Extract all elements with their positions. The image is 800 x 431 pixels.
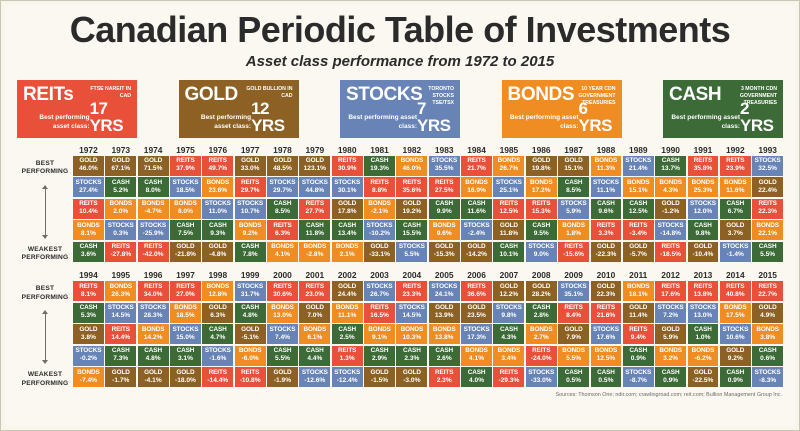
- asset-cell: STOCKS21.4%: [623, 156, 654, 176]
- asset-cell: BONDS4.1%: [461, 346, 492, 366]
- asset-cell-value: 9.8%: [493, 312, 524, 320]
- asset-cell-name: GOLD: [170, 369, 201, 377]
- asset-cell-name: STOCKS: [299, 369, 330, 377]
- asset-cell-name: BONDS: [73, 369, 104, 377]
- asset-cell-name: CASH: [623, 200, 654, 208]
- asset-cell-name: REITS: [720, 283, 751, 291]
- asset-cell-value: 4.1%: [461, 355, 492, 363]
- asset-cell-name: BONDS: [752, 326, 783, 334]
- asset-cell: GOLD3.8%: [73, 324, 104, 344]
- asset-cell: REITS-18.5%: [655, 242, 686, 262]
- asset-cell-name: STOCKS: [526, 243, 557, 251]
- asset-cell-value: 15.0%: [170, 334, 201, 342]
- asset-cell-name: STOCKS: [73, 347, 104, 355]
- asset-cell: GOLD-1.2%: [655, 199, 686, 219]
- asset-cell-name: GOLD: [623, 243, 654, 251]
- asset-cell-name: STOCKS: [720, 243, 751, 251]
- asset-cell: STOCKS5.5%: [396, 242, 427, 262]
- asset-cell: GOLD-4.8%: [202, 242, 233, 262]
- asset-cell: GOLD-1.7%: [105, 367, 136, 387]
- asset-cell: STOCKS17.6%: [591, 324, 622, 344]
- asset-cell: CASH3.1%: [170, 346, 201, 366]
- asset-cell: STOCKS24.1%: [429, 281, 460, 301]
- asset-cell: GOLD-18.0%: [170, 367, 201, 387]
- asset-cell: REITS-15.6%: [558, 242, 589, 262]
- asset-cell: REITS27.7%: [299, 199, 330, 219]
- asset-cell-value: 29.7%: [235, 187, 266, 195]
- year-header-row: 1994199519961997199819992000200120022003…: [73, 270, 783, 281]
- asset-cell-name: GOLD: [396, 369, 427, 377]
- asset-cell: STOCKS-33.0%: [526, 367, 557, 387]
- asset-cell-value: 12.5%: [591, 355, 622, 363]
- asset-cell: REITS30.9%: [332, 156, 363, 176]
- year-header: 1996: [138, 270, 169, 281]
- asset-cell: REITS-29.3%: [493, 367, 524, 387]
- asset-cell-value: 28.2%: [526, 291, 557, 299]
- asset-cell-value: 3.3%: [591, 230, 622, 238]
- asset-cell-value: 9.8%: [688, 230, 719, 238]
- table-row: STOCKS27.4%CASH5.2%CASH8.0%STOCKS18.5%BO…: [73, 177, 783, 197]
- asset-cell-name: CASH: [396, 347, 427, 355]
- asset-cell: CASH4.0%: [461, 367, 492, 387]
- asset-cell-value: 35.1%: [558, 291, 589, 299]
- asset-cell-value: 1.0%: [688, 334, 719, 342]
- asset-cell-value: 22.4%: [752, 187, 783, 195]
- table-row: GOLD46.0%GOLD67.1%GOLD71.5%REITS37.9%REI…: [73, 156, 783, 176]
- asset-cell: BONDS-2.8%: [299, 242, 330, 262]
- asset-cell: BONDS14.2%: [138, 324, 169, 344]
- asset-cell-name: STOCKS: [332, 369, 363, 377]
- asset-cell-name: CASH: [364, 347, 395, 355]
- asset-cell-name: CASH: [720, 369, 751, 377]
- asset-cell-name: REITS: [526, 347, 557, 355]
- asset-cell-name: STOCKS: [202, 347, 233, 355]
- asset-cell-value: 4.8%: [138, 355, 169, 363]
- asset-cell-name: STOCKS: [461, 326, 492, 334]
- asset-cell-name: GOLD: [752, 304, 783, 312]
- legend-card-years: 2 YRS: [740, 100, 777, 134]
- asset-cell-name: BONDS: [688, 347, 719, 355]
- year-header: 2000: [267, 270, 298, 281]
- asset-cell-value: 16.9%: [461, 187, 492, 195]
- asset-cell-name: REITS: [655, 243, 686, 251]
- asset-cell-value: 15.5%: [396, 230, 427, 238]
- arrow-line-2: [45, 314, 46, 360]
- asset-cell-name: BONDS: [526, 179, 557, 187]
- asset-cell: GOLD46.0%: [73, 156, 104, 176]
- asset-cell: STOCKS14.5%: [105, 303, 136, 323]
- asset-cell-value: 5.5%: [558, 355, 589, 363]
- asset-cell-name: STOCKS: [235, 283, 266, 291]
- legend-card-description: FTSE NAREIT IN CAD: [79, 85, 131, 100]
- asset-cell-name: STOCKS: [396, 243, 427, 251]
- asset-cell-name: BONDS: [429, 326, 460, 334]
- asset-cell-value: 19.2%: [396, 208, 427, 216]
- asset-cell: REITS13.8%: [688, 281, 719, 301]
- asset-cell-name: BONDS: [73, 222, 104, 230]
- asset-cell-name: STOCKS: [105, 304, 136, 312]
- asset-cell-value: 11.1%: [332, 312, 363, 320]
- asset-cell-name: REITS: [299, 200, 330, 208]
- asset-cell-value: 12.5%: [493, 208, 524, 216]
- asset-cell: STOCKS-8.3%: [752, 367, 783, 387]
- infographic-poster: Canadian Periodic Table of Investments A…: [0, 0, 800, 431]
- asset-cell-value: 10.1%: [493, 251, 524, 259]
- asset-cell-name: REITS: [235, 369, 266, 377]
- asset-cell-name: BONDS: [558, 222, 589, 230]
- asset-cell-value: 30.1%: [332, 187, 363, 195]
- asset-cell-name: REITS: [73, 200, 104, 208]
- year-header: 1973: [105, 145, 136, 156]
- asset-cell-name: REITS: [623, 326, 654, 334]
- legend-card-best-label: Best performing asset class:: [346, 114, 417, 134]
- asset-cell-value: 24.4%: [332, 291, 363, 299]
- asset-cell-value: 13.9%: [429, 312, 460, 320]
- asset-cell: CASH4.3%: [493, 324, 524, 344]
- asset-cell-name: CASH: [461, 369, 492, 377]
- asset-cell-value: 9.2%: [720, 355, 751, 363]
- asset-cell: STOCKS32.5%: [752, 156, 783, 176]
- asset-cell-name: CASH: [493, 243, 524, 251]
- asset-cell: BONDS9.6%: [429, 220, 460, 240]
- asset-cell-value: 30.6%: [267, 291, 298, 299]
- asset-cell-value: -2.1%: [364, 208, 395, 216]
- rank-axis-1: BEST PERFORMING WEAKEST PERFORMING: [17, 145, 73, 264]
- asset-cell: GOLD48.5%: [267, 156, 298, 176]
- asset-cell-name: GOLD: [752, 179, 783, 187]
- asset-cell: GOLD67.1%: [105, 156, 136, 176]
- asset-cell-value: 15.1%: [558, 165, 589, 173]
- asset-cell: BONDS9.1%: [364, 324, 395, 344]
- asset-cell-name: CASH: [655, 157, 686, 165]
- asset-cell-name: GOLD: [73, 157, 104, 165]
- asset-cell-name: BONDS: [267, 304, 298, 312]
- asset-cell-name: CASH: [202, 326, 233, 334]
- asset-cell-name: GOLD: [332, 283, 363, 291]
- asset-cell: CASH1.0%: [688, 324, 719, 344]
- asset-cell-value: 25.3%: [688, 187, 719, 195]
- asset-cell-name: BONDS: [655, 347, 686, 355]
- asset-cell-value: 11.3%: [591, 165, 622, 173]
- asset-cell-name: GOLD: [655, 200, 686, 208]
- asset-cell-value: 7.4%: [267, 334, 298, 342]
- asset-cell-name: CASH: [299, 347, 330, 355]
- rank-axis-2: BEST PERFORMING WEAKEST PERFORMING: [17, 270, 73, 389]
- asset-cell: GOLD22.4%: [752, 177, 783, 197]
- year-header: 1985: [493, 145, 524, 156]
- asset-cell: BONDS1.8%: [558, 220, 589, 240]
- asset-cell-value: 46.0%: [396, 165, 427, 173]
- asset-cell-value: 13.8%: [688, 291, 719, 299]
- asset-cell-value: 23.3%: [396, 291, 427, 299]
- asset-cell-name: GOLD: [235, 326, 266, 334]
- asset-cell-value: 26.7%: [364, 291, 395, 299]
- asset-cell: GOLD123.1%: [299, 156, 330, 176]
- asset-cell-name: REITS: [364, 304, 395, 312]
- asset-cell: BONDS16.9%: [461, 177, 492, 197]
- year-header: 1990: [655, 145, 686, 156]
- asset-cell-name: CASH: [461, 200, 492, 208]
- page-title: Canadian Periodic Table of Investments: [5, 11, 795, 50]
- asset-cell: GOLD23.5%: [461, 303, 492, 323]
- asset-cell-value: -22.5%: [688, 377, 719, 385]
- asset-cell-name: BONDS: [396, 157, 427, 165]
- asset-cell-value: -1.9%: [267, 377, 298, 385]
- axis-label-weakest-2: WEAKEST PERFORMING: [17, 371, 73, 387]
- asset-cell-name: REITS: [655, 283, 686, 291]
- asset-cell-value: 13.7%: [655, 165, 686, 173]
- asset-cell-name: GOLD: [138, 369, 169, 377]
- asset-cell: GOLD-5.7%: [623, 242, 654, 262]
- asset-cell-value: -29.3%: [493, 377, 524, 385]
- asset-cell-name: BONDS: [267, 243, 298, 251]
- asset-cell-name: GOLD: [267, 157, 298, 165]
- asset-cell-name: BONDS: [591, 347, 622, 355]
- asset-cell-value: 7.8%: [235, 251, 266, 259]
- asset-cell: REITS8.4%: [558, 303, 589, 323]
- asset-cell-name: STOCKS: [655, 222, 686, 230]
- arrow-head-down-1: [42, 235, 48, 239]
- asset-cell-value: 12.0%: [688, 208, 719, 216]
- asset-cell-value: 2.9%: [364, 355, 395, 363]
- asset-cell-value: 11.4%: [623, 312, 654, 320]
- asset-cell-value: 23.5%: [461, 312, 492, 320]
- asset-cell-value: 19.8%: [526, 165, 557, 173]
- asset-cell-name: CASH: [623, 347, 654, 355]
- asset-cell-name: BONDS: [752, 222, 783, 230]
- year-header: 1993: [752, 145, 783, 156]
- asset-cell: REITS9.4%: [623, 324, 654, 344]
- asset-cell-name: GOLD: [688, 369, 719, 377]
- asset-cell: REITS12.5%: [493, 199, 524, 219]
- asset-cell-value: 13.8%: [429, 334, 460, 342]
- asset-cell-name: CASH: [299, 222, 330, 230]
- asset-cell: STOCKS-8.7%: [623, 367, 654, 387]
- table-block-2: BEST PERFORMING WEAKEST PERFORMING 19941…: [17, 270, 783, 389]
- asset-cell-value: 21.4%: [623, 165, 654, 173]
- asset-cell: GOLD-15.3%: [429, 242, 460, 262]
- asset-cell: REITS23.9%: [720, 156, 751, 176]
- legend-card-years: 7 YRS: [417, 100, 454, 134]
- year-header: 1992: [720, 145, 751, 156]
- asset-cell: CASH7.5%: [170, 220, 201, 240]
- asset-cell-value: -3.4%: [623, 230, 654, 238]
- asset-cell-name: GOLD: [202, 304, 233, 312]
- asset-cell-value: 11.0%: [202, 208, 233, 216]
- asset-cell-name: BONDS: [396, 326, 427, 334]
- asset-cell: GOLD9.2%: [720, 346, 751, 366]
- asset-cell: CASH5.3%: [73, 303, 104, 323]
- asset-cell-value: -18.0%: [170, 377, 201, 385]
- asset-cell-value: 44.8%: [299, 187, 330, 195]
- asset-cell: BONDS26.3%: [105, 281, 136, 301]
- asset-cell: BONDS-4.7%: [138, 199, 169, 219]
- asset-cell: BONDS23.6%: [202, 177, 233, 197]
- asset-cell-name: GOLD: [105, 369, 136, 377]
- asset-cell-name: REITS: [720, 157, 751, 165]
- asset-cell-name: CASH: [526, 304, 557, 312]
- year-header: 1999: [235, 270, 266, 281]
- asset-cell: STOCKS-1.6%: [202, 346, 233, 366]
- asset-cell-name: BONDS: [170, 200, 201, 208]
- asset-cell-name: CASH: [235, 304, 266, 312]
- asset-cell: STOCKS-25.9%: [138, 220, 169, 240]
- year-header: 1977: [235, 145, 266, 156]
- asset-cell-value: 9.2%: [235, 230, 266, 238]
- asset-cell: GOLD-1.9%: [267, 367, 298, 387]
- asset-cell: STOCKS-0.2%: [73, 346, 104, 366]
- asset-cell-name: BONDS: [591, 157, 622, 165]
- year-header: 2001: [299, 270, 330, 281]
- asset-cell-value: 46.0%: [73, 165, 104, 173]
- asset-cell: BONDS17.2%: [526, 177, 557, 197]
- asset-cell-value: 11.8%: [299, 230, 330, 238]
- asset-cell: REITS23.0%: [299, 281, 330, 301]
- asset-cell: STOCKS30.1%: [332, 177, 363, 197]
- year-header: 1979: [299, 145, 330, 156]
- asset-cell-value: 33.0%: [235, 165, 266, 173]
- legend-card-cash: CASH3 MONTH CDN GOVERNMENT TREASURIESBes…: [663, 80, 783, 138]
- asset-cell-value: 27.5%: [429, 187, 460, 195]
- asset-cell-value: 17.6%: [591, 334, 622, 342]
- asset-cell: CASH2.3%: [396, 346, 427, 366]
- asset-cell-value: 11.6%: [461, 208, 492, 216]
- asset-cell-name: GOLD: [299, 304, 330, 312]
- asset-cell-value: 21.7%: [461, 165, 492, 173]
- asset-cell: STOCKS-14.8%: [655, 220, 686, 240]
- asset-cell-value: -1.6%: [202, 355, 233, 363]
- asset-cell-name: REITS: [170, 157, 201, 165]
- asset-cell: GOLD71.5%: [138, 156, 169, 176]
- asset-cell-value: -4.1%: [138, 377, 169, 385]
- asset-cell-name: BONDS: [202, 179, 233, 187]
- asset-cell-value: 12.8%: [202, 291, 233, 299]
- asset-cell-value: 27.7%: [299, 208, 330, 216]
- asset-cell-name: GOLD: [558, 326, 589, 334]
- asset-cell-value: 17.8%: [332, 208, 363, 216]
- asset-cell: CASH8.0%: [138, 177, 169, 197]
- asset-cell: GOLD24.4%: [332, 281, 363, 301]
- year-header: 2005: [429, 270, 460, 281]
- asset-cell-name: GOLD: [170, 243, 201, 251]
- asset-cell-value: -3.0%: [396, 377, 427, 385]
- asset-cell-name: GOLD: [299, 157, 330, 165]
- asset-cell-value: -33.0%: [526, 377, 557, 385]
- asset-cell-name: BONDS: [364, 200, 395, 208]
- asset-cell-value: 0.3%: [105, 230, 136, 238]
- asset-cell-name: GOLD: [235, 157, 266, 165]
- legend-card-stocks: STOCKSTORONTO STOCKS TSE/TSXBest perform…: [340, 80, 460, 138]
- asset-cell-value: 7.0%: [299, 312, 330, 320]
- asset-cell-value: 8.0%: [170, 208, 201, 216]
- asset-cell-name: CASH: [170, 347, 201, 355]
- asset-cell: STOCKS-2.4%: [461, 220, 492, 240]
- asset-cell-name: STOCKS: [429, 283, 460, 291]
- asset-cell: STOCKS35.5%: [429, 156, 460, 176]
- asset-cell: BONDS-6.2%: [688, 346, 719, 366]
- asset-cell: CASH9.9%: [429, 199, 460, 219]
- asset-cell-name: REITS: [461, 157, 492, 165]
- asset-cell: REITS6.3%: [267, 220, 298, 240]
- asset-cell: BONDS15.1%: [623, 177, 654, 197]
- asset-cell-name: GOLD: [493, 283, 524, 291]
- asset-cell-value: 11.8%: [493, 230, 524, 238]
- year-header: 2007: [493, 270, 524, 281]
- asset-cell: CASH4.7%: [202, 324, 233, 344]
- asset-cell: STOCKS0.3%: [105, 220, 136, 240]
- year-header: 2004: [396, 270, 427, 281]
- asset-cell: BONDS11.6%: [720, 177, 751, 197]
- asset-cell-value: 10.7%: [235, 208, 266, 216]
- asset-cell: BONDS10.3%: [396, 324, 427, 344]
- legend-cards: REITsFTSE NAREIT IN CADBest performing a…: [17, 80, 783, 138]
- asset-cell-value: 9.3%: [202, 230, 233, 238]
- table-grid-2: 1994199519961997199819992000200120022003…: [73, 270, 783, 389]
- asset-cell: CASH5.5%: [752, 242, 783, 262]
- asset-cell-name: GOLD: [526, 283, 557, 291]
- asset-cell-name: REITS: [558, 304, 589, 312]
- asset-cell: CASH4.4%: [299, 346, 330, 366]
- asset-cell-value: 6.7%: [720, 208, 751, 216]
- asset-cell: GOLD11.4%: [623, 303, 654, 323]
- asset-cell-name: REITS: [429, 369, 460, 377]
- asset-cell-value: -5.1%: [235, 334, 266, 342]
- year-header: 1974: [138, 145, 169, 156]
- asset-cell-value: 18.1%: [623, 291, 654, 299]
- asset-cell-value: 5.2%: [105, 187, 136, 195]
- asset-cell-value: 40.8%: [720, 291, 751, 299]
- asset-cell-value: 0.5%: [591, 377, 622, 385]
- asset-cell: REITS14.4%: [105, 324, 136, 344]
- asset-cell-value: -12.4%: [332, 377, 363, 385]
- legend-card-best-label: Best performing asset class:: [185, 114, 252, 134]
- asset-cell-value: 13.0%: [267, 312, 298, 320]
- asset-cell-value: 2.6%: [429, 355, 460, 363]
- asset-cell: GOLD11.8%: [493, 220, 524, 240]
- year-header: 2015: [752, 270, 783, 281]
- asset-cell: REITS2.3%: [429, 367, 460, 387]
- asset-cell: REITS35.6%: [396, 177, 427, 197]
- asset-cell-value: 13.4%: [332, 230, 363, 238]
- asset-cell-value: 8.1%: [73, 230, 104, 238]
- asset-cell-name: GOLD: [558, 157, 589, 165]
- asset-cell: STOCKS14.5%: [396, 303, 427, 323]
- asset-cell-name: GOLD: [655, 326, 686, 334]
- asset-cell-value: 27.4%: [73, 187, 104, 195]
- asset-cell-value: 4.4%: [299, 355, 330, 363]
- asset-cell-value: 11.6%: [720, 187, 751, 195]
- asset-cell-value: 26.3%: [105, 291, 136, 299]
- asset-cell-value: 22.7%: [752, 291, 783, 299]
- asset-cell-name: REITS: [202, 157, 233, 165]
- asset-cell: REITS1.3%: [332, 346, 363, 366]
- asset-cell-name: STOCKS: [138, 222, 169, 230]
- axis-label-best-1: BEST PERFORMING: [17, 160, 73, 176]
- asset-cell-name: STOCKS: [332, 179, 363, 187]
- asset-cell-value: 16.5%: [364, 312, 395, 320]
- asset-cell-name: CASH: [138, 179, 169, 187]
- asset-cell-value: 2.0%: [105, 208, 136, 216]
- asset-cell-value: 17.5%: [720, 312, 751, 320]
- asset-cell-name: BONDS: [558, 347, 589, 355]
- asset-cell-name: CASH: [655, 369, 686, 377]
- asset-cell: GOLD-1.5%: [364, 367, 395, 387]
- asset-cell-value: 6.3%: [267, 230, 298, 238]
- year-header: 1976: [202, 145, 233, 156]
- asset-cell: GOLD-33.1%: [364, 242, 395, 262]
- asset-cell-name: CASH: [396, 222, 427, 230]
- asset-cell-value: 3.6%: [73, 251, 104, 259]
